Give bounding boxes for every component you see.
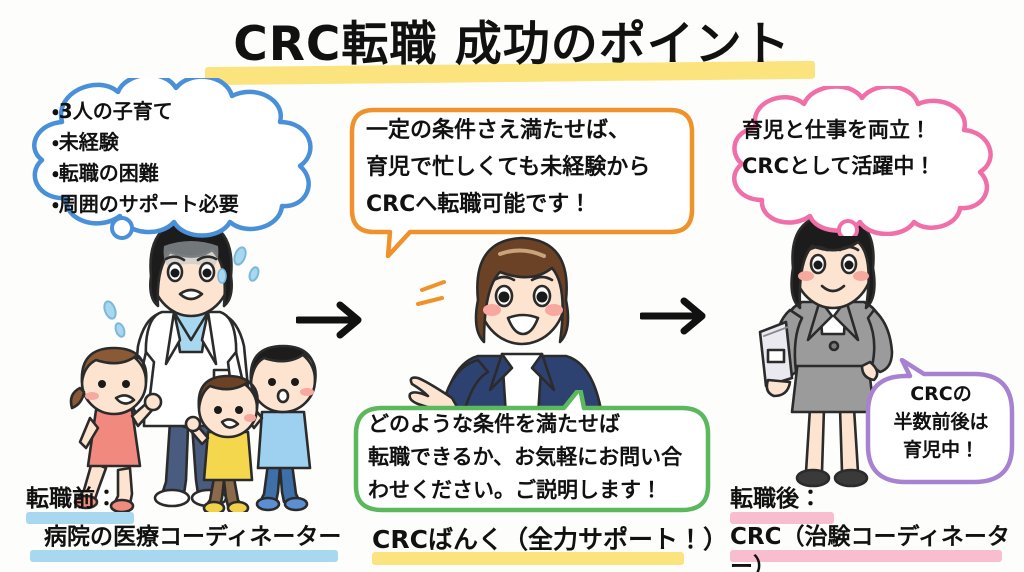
infographic-canvas: CRC転職 成功のポイント ・3人の子育て ・未経験 ・転職の困難 ・周囲のサポ… [0, 0, 1024, 572]
after-caption-line1: 転職後： [730, 484, 822, 514]
arrow-center-to-after [640, 296, 716, 336]
center-caption: CRCばんく（全力サポート！） [372, 524, 728, 556]
center-speech-bubble-text: 一定の条件さえ満たせば、 育児で忙しくても未経験から CRCへ転職可能です！ [366, 112, 684, 223]
after-caption-line2: CRC（治験コーディネーター） [730, 522, 1024, 572]
stressed-woman-with-three-children [62, 212, 320, 512]
page-title: CRC転職 成功のポイント [0, 14, 1024, 76]
before-thought-bubble-text: ・3人の子育て ・未経験 ・転職の困難 ・周囲のサポート必要 [52, 96, 322, 220]
center-lower-bubble-text: どのような条件を満たせば 転職できるか、お気軽にお問い合 わせください。ご説明し… [368, 408, 704, 507]
page-title-area: CRC転職 成功のポイント [0, 14, 1024, 76]
before-caption-line1: 転職前： [26, 484, 118, 514]
arrow-before-to-center [296, 300, 372, 340]
before-caption-line2: 病院の医療コーディネーター [44, 522, 341, 552]
emphasis-lines-icon [414, 278, 454, 318]
after-small-bubble-text: CRCの 半数前後は 育児中！ [872, 380, 1010, 464]
after-thought-bubble-text: 育児と仕事を両立！ CRCとして活躍中！ [742, 112, 1002, 184]
